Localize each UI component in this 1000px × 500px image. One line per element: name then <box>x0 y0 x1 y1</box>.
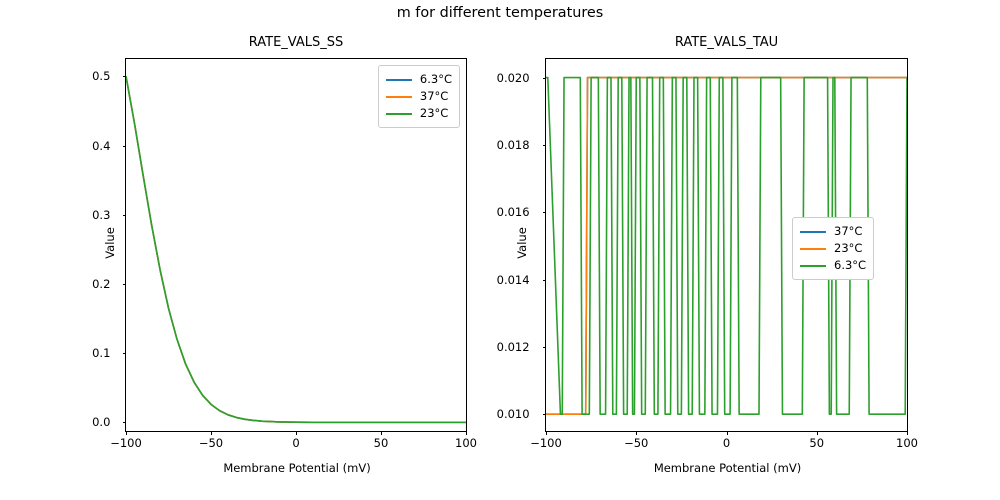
figure-suptitle: m for different temperatures <box>0 5 1000 21</box>
legend-entry: 37°C <box>386 88 452 105</box>
x-tick-mark <box>817 431 818 435</box>
y-tick-label: 0.018 <box>497 138 532 152</box>
legend-right[interactable]: 37°C23°C6.3°C <box>792 217 874 280</box>
x-tick-mark <box>126 431 127 435</box>
x-tick-label: 50 <box>809 436 824 450</box>
x-tick-label: 50 <box>374 436 389 450</box>
legend-line-swatch <box>386 96 412 98</box>
series-line <box>126 76 466 422</box>
y-tick-mark <box>123 353 127 354</box>
y-tick-label: 0.012 <box>497 340 532 354</box>
y-tick-label: 0.020 <box>497 71 532 85</box>
x-tick-label: −50 <box>624 436 648 450</box>
legend-left[interactable]: 6.3°C37°C23°C <box>378 65 460 128</box>
x-tick-label: 0 <box>723 436 730 450</box>
legend-label: 6.3°C <box>420 71 452 88</box>
y-tick-mark <box>123 284 127 285</box>
x-tick-label: −50 <box>199 436 223 450</box>
legend-line-swatch <box>800 231 826 233</box>
y-tick-mark <box>123 76 127 77</box>
x-axis-label-right: Membrane Potential (mV) <box>546 461 909 475</box>
x-tick-mark <box>907 431 908 435</box>
legend-entry: 6.3°C <box>386 71 452 88</box>
y-tick-label: 0.3 <box>92 208 112 222</box>
x-tick-label: 100 <box>455 436 477 450</box>
y-tick-label: 0.010 <box>497 407 532 421</box>
x-tick-mark <box>636 431 637 435</box>
x-tick-label: 0 <box>292 436 299 450</box>
y-tick-mark <box>543 212 547 213</box>
y-tick-mark <box>123 146 127 147</box>
series-line <box>126 76 466 422</box>
x-tick-mark <box>727 431 728 435</box>
legend-line-swatch <box>800 248 826 250</box>
y-tick-mark <box>123 215 127 216</box>
y-tick-mark <box>543 145 547 146</box>
x-tick-mark <box>211 431 212 435</box>
subplot-title-right: RATE_VALS_TAU <box>546 35 907 50</box>
y-tick-label: 0.4 <box>92 139 112 153</box>
legend-line-swatch <box>386 113 412 115</box>
y-tick-mark <box>543 414 547 415</box>
x-tick-label: −100 <box>530 436 562 450</box>
legend-line-swatch <box>800 265 826 267</box>
legend-label: 37°C <box>420 88 448 105</box>
legend-entry: 23°C <box>800 240 866 257</box>
legend-label: 23°C <box>834 240 862 257</box>
series-line <box>126 76 466 422</box>
x-axis-label-left: Membrane Potential (mV) <box>126 461 468 475</box>
legend-label: 37°C <box>834 223 862 240</box>
y-tick-label: 0.014 <box>497 273 532 287</box>
subplot-title-left: RATE_VALS_SS <box>126 35 466 50</box>
x-tick-mark <box>296 431 297 435</box>
axes-rate-vals-tau: RATE_VALS_TAU Value Membrane Potential (… <box>545 58 908 432</box>
legend-entry: 37°C <box>800 223 866 240</box>
x-tick-label: −100 <box>110 436 142 450</box>
legend-entry: 23°C <box>386 105 452 122</box>
y-tick-mark <box>543 280 547 281</box>
legend-label: 23°C <box>420 105 448 122</box>
x-tick-mark <box>381 431 382 435</box>
x-tick-mark <box>546 431 547 435</box>
y-tick-label: 0.5 <box>92 69 112 83</box>
x-tick-mark <box>466 431 467 435</box>
axes-rate-vals-ss: RATE_VALS_SS Value Membrane Potential (m… <box>125 58 467 432</box>
legend-label: 6.3°C <box>834 257 866 274</box>
y-tick-mark <box>543 347 547 348</box>
x-tick-label: 100 <box>896 436 918 450</box>
legend-line-swatch <box>386 79 412 81</box>
y-tick-label: 0.016 <box>497 205 532 219</box>
y-tick-label: 0.2 <box>92 277 112 291</box>
y-tick-mark <box>123 422 127 423</box>
y-tick-label: 0.0 <box>92 415 112 429</box>
y-tick-label: 0.1 <box>92 346 112 360</box>
matplotlib-figure: m for different temperatures RATE_VALS_S… <box>0 0 1000 500</box>
legend-entry: 6.3°C <box>800 257 866 274</box>
y-tick-mark <box>543 78 547 79</box>
